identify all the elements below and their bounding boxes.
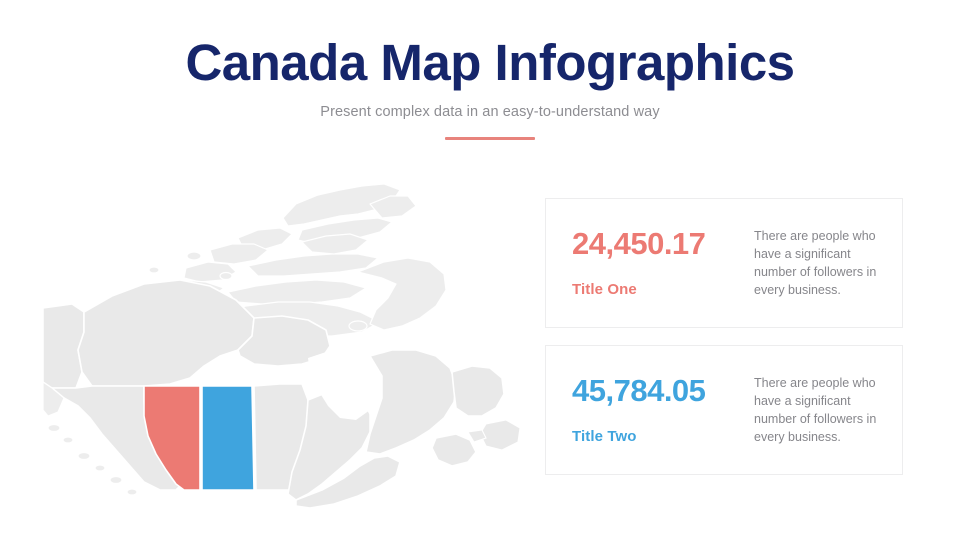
stat-card-two-description: There are people who have a significant … (754, 374, 902, 447)
region-northwest-territories (78, 280, 254, 386)
island-newfoundland (480, 420, 520, 450)
accent-divider (445, 137, 535, 140)
region-newfoundland-labrador (452, 366, 504, 416)
canada-map-svg (40, 160, 550, 540)
page-subtitle: Present complex data in an easy-to-under… (0, 93, 980, 120)
region-saskatchewan-highlight[interactable] (202, 386, 254, 490)
region-yukon (43, 304, 84, 388)
stat-card-one-value: 24,450.17 (572, 228, 754, 259)
page-title: Canada Map Infographics (0, 0, 980, 93)
stat-card-two[interactable]: 45,784.05 Title Two There are people who… (545, 345, 903, 475)
stat-card-two-left: 45,784.05 Title Two (572, 375, 754, 445)
stat-card-two-value: 45,784.05 (572, 375, 754, 406)
stat-cards-list: 24,450.17 Title One There are people who… (545, 198, 903, 475)
canada-map (40, 160, 550, 540)
stat-card-one-left: 24,450.17 Title One (572, 228, 754, 298)
stat-card-one-description: There are people who have a significant … (754, 227, 902, 300)
stat-card-one[interactable]: 24,450.17 Title One There are people who… (545, 198, 903, 328)
region-new-brunswick-nova-scotia (432, 434, 476, 466)
stat-card-one-label: Title One (572, 281, 754, 298)
header: Canada Map Infographics Present complex … (0, 0, 980, 140)
stat-card-two-label: Title Two (572, 428, 754, 445)
